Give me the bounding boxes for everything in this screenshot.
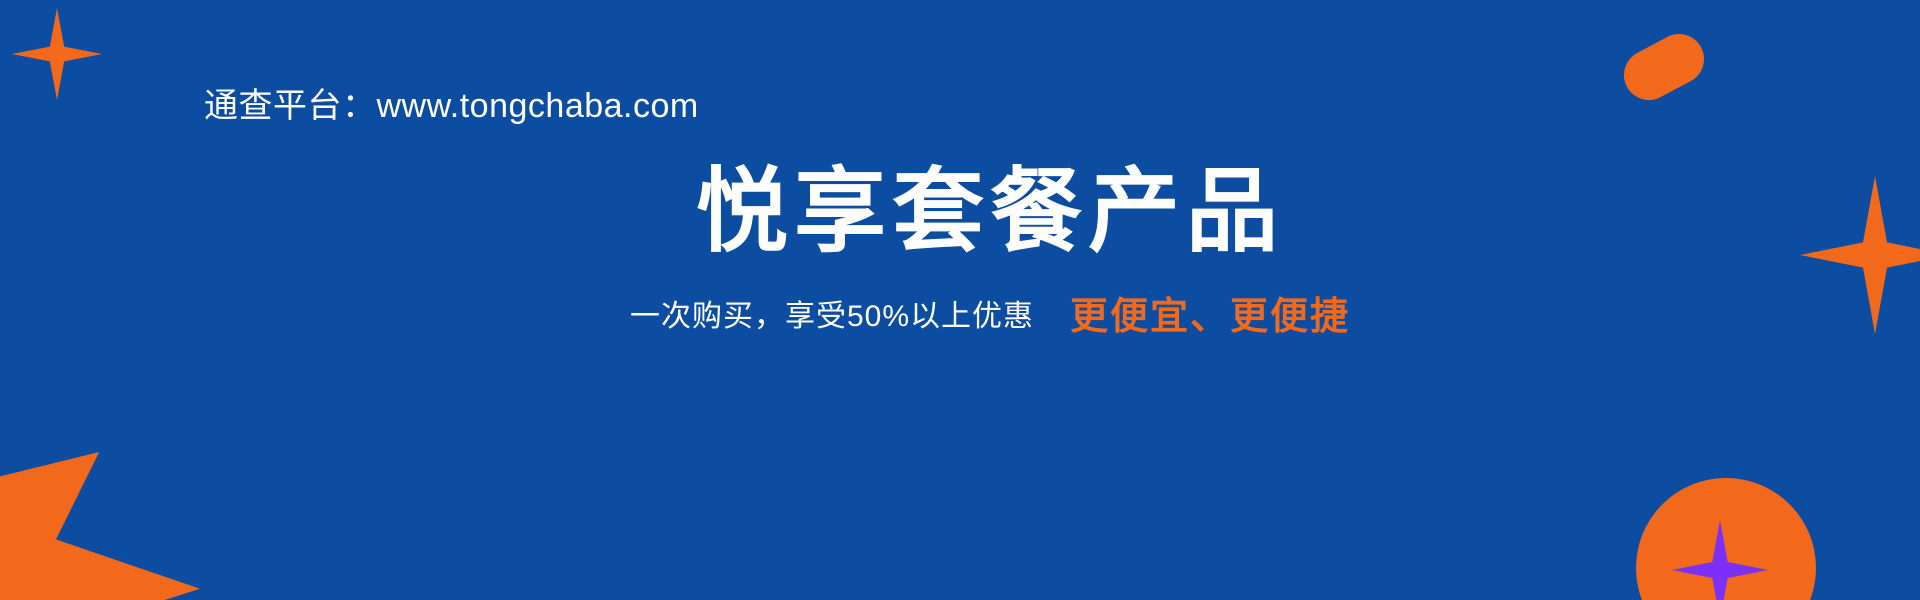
banner-subtitle-main: 一次购买，享受50%以上优惠: [630, 300, 1034, 333]
platform-url-line: 通查平台：www.tongchaba.com: [204, 82, 699, 130]
banner-subtitle-accent: 更便宜、更便捷: [1070, 296, 1350, 338]
banner-subtitle-line: 一次购买，享受50%以上优惠更便宜、更便捷: [0, 290, 1920, 344]
platform-label: 通查平台：: [204, 87, 377, 125]
banner-headline: 悦享套餐产品: [0, 156, 1920, 268]
promo-banner: 通查平台：www.tongchaba.com 悦享套餐产品 一次购买，享受50%…: [0, 0, 1920, 600]
platform-url[interactable]: www.tongchaba.com: [377, 87, 699, 125]
banner-content: 通查平台：www.tongchaba.com 悦享套餐产品 一次购买，享受50%…: [0, 0, 1920, 600]
